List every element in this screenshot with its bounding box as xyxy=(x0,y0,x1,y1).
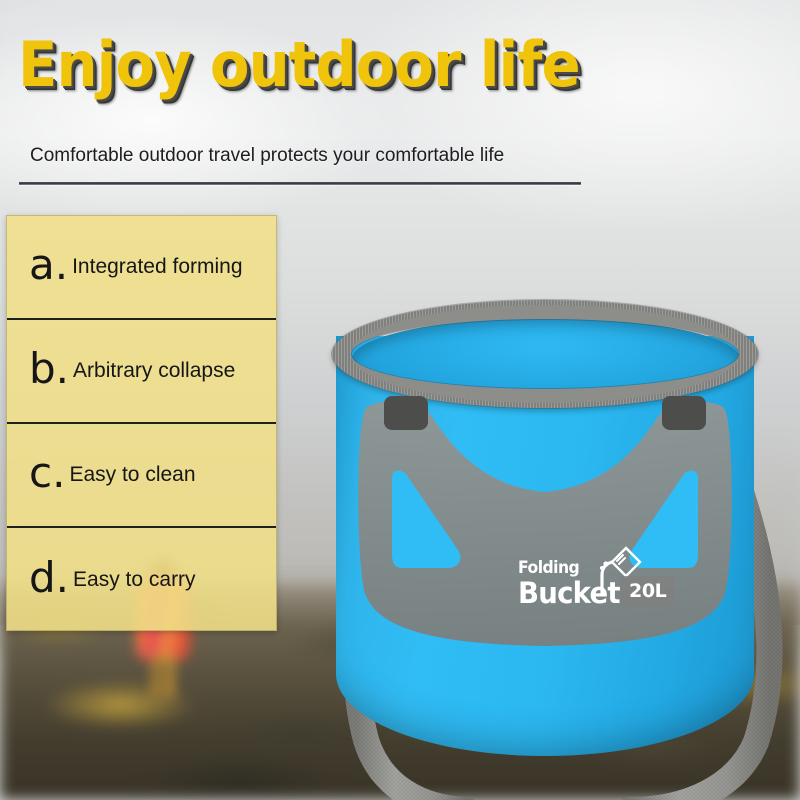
volume-badge: 20L xyxy=(620,576,675,606)
feature-item-d: d. Easy to carry xyxy=(7,528,276,632)
feature-letter: b. xyxy=(29,348,69,390)
feature-item-a: a. Integrated forming xyxy=(7,216,276,320)
feature-letter: c. xyxy=(29,452,65,494)
feature-label: Easy to carry xyxy=(73,568,196,592)
bucket-webbing-rim xyxy=(332,300,758,408)
folding-bucket-product: Folding Bucket 20L xyxy=(330,300,760,760)
feature-label: Arbitrary collapse xyxy=(73,359,235,383)
brand-name-line1: Folding xyxy=(518,558,579,578)
strap-anchor-right xyxy=(662,396,706,430)
person-leg-left xyxy=(152,654,160,698)
feature-item-b: b. Arbitrary collapse xyxy=(7,320,276,424)
feature-letter: a. xyxy=(29,244,68,286)
subtitle-divider xyxy=(19,182,581,185)
feature-list-panel: a. Integrated forming b. Arbitrary colla… xyxy=(6,215,277,631)
feature-item-c: c. Easy to clean xyxy=(7,424,276,528)
feature-label: Integrated forming xyxy=(72,255,242,279)
person-leg-right xyxy=(166,654,174,698)
product-banner: Enjoy outdoor life Comfortable outdoor t… xyxy=(0,0,800,800)
subtitle: Comfortable outdoor travel protects your… xyxy=(30,144,504,168)
feature-label: Easy to clean xyxy=(69,463,195,487)
feature-letter: d. xyxy=(29,557,69,599)
bucket-harness-panel xyxy=(330,400,760,660)
headline: Enjoy outdoor life xyxy=(18,34,580,96)
strap-anchor-left xyxy=(384,396,428,430)
